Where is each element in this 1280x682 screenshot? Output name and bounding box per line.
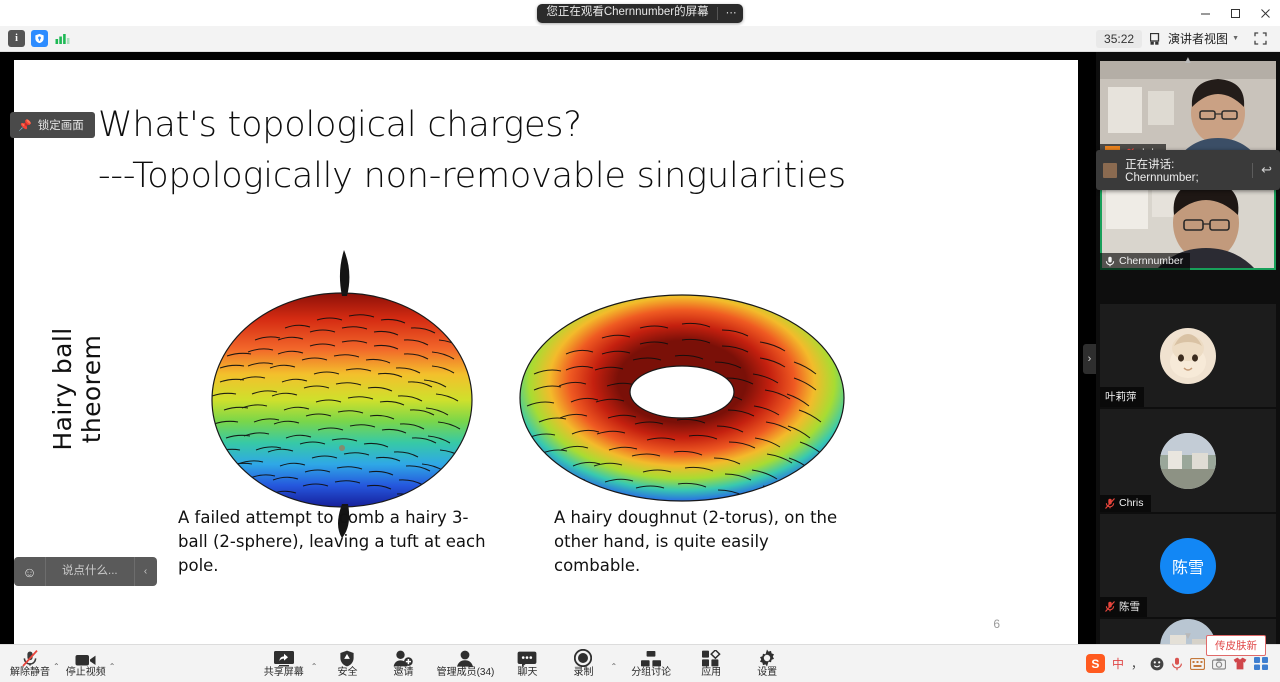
chat-label: 聊天 [517, 668, 537, 678]
ime-language-toggle[interactable]: 中 [1112, 655, 1124, 672]
apps-icon [702, 650, 721, 667]
slide-caption-right: A hairy doughnut (2-torus), on the other… [554, 506, 844, 578]
screenshot-icon[interactable] [1212, 658, 1226, 670]
breakout-rooms-label: 分组讨论 [631, 668, 671, 678]
manage-participants-button[interactable]: 管理成员(34) [433, 645, 497, 682]
window-controls [1190, 0, 1280, 26]
sharing-banner-text: 您正在观看Chernnumber的屏幕 [546, 7, 708, 19]
network-quality-icon[interactable] [54, 30, 71, 47]
participant-name-4: 陈雪 [1119, 599, 1140, 614]
security-shield-icon [339, 650, 355, 667]
reply-arrow-icon[interactable]: ↩ [1261, 162, 1272, 178]
stop-video-button[interactable]: 停止视频 [60, 645, 112, 682]
participant-name-row-2: 叶莉萍 [1100, 387, 1144, 407]
top-bar-right-group: 35:22 演讲者视图 ▼ [1096, 27, 1280, 50]
slide-vertical-label: Hairy ball theorem [48, 274, 106, 504]
reaction-collapse-icon[interactable]: ‹ [135, 557, 157, 586]
sogou-logo-icon[interactable]: S [1086, 654, 1105, 673]
invite-person-icon [393, 650, 413, 667]
chevron-down-icon: ▼ [1232, 35, 1239, 42]
view-mode-label: 演讲者视图 [1168, 30, 1228, 47]
filmstrip-scroll-down[interactable]: ▼ [1096, 628, 1280, 644]
more-options-icon[interactable]: ⋯ [726, 8, 736, 19]
video-camera-icon [75, 650, 96, 667]
slide-title-line1: What's topological charges? [98, 105, 582, 145]
shared-screen-stage: 📌 锁定画面 What's topological charges? ---To… [0, 52, 1096, 644]
settings-button[interactable]: 设置 [741, 645, 793, 682]
record-options-chevron-icon[interactable]: ⌃ [610, 662, 617, 682]
participant-name-3: Chris [1119, 497, 1144, 509]
close-button[interactable] [1250, 0, 1280, 26]
keyboard-icon[interactable] [1190, 658, 1205, 670]
hairy-sphere-figure [192, 248, 492, 538]
avatar-3 [1160, 433, 1216, 489]
top-bar-left-group: i [0, 30, 71, 47]
avatar-4: 陈雪 [1160, 538, 1216, 594]
apps-button[interactable]: 应用 [685, 645, 737, 682]
share-screen-label: 共享屏幕 [264, 668, 304, 678]
security-label: 安全 [337, 668, 357, 678]
participant-tile-3[interactable]: Chris [1100, 409, 1276, 512]
share-screen-icon [273, 650, 295, 667]
record-label: 录制 [573, 668, 593, 678]
security-shield-icon[interactable] [31, 30, 48, 47]
presentation-slide: What's topological charges? ---Topologic… [14, 60, 1078, 645]
screen-share-banner[interactable]: 您正在观看Chernnumber的屏幕 ⋯ [537, 4, 742, 23]
info-icon[interactable]: i [8, 30, 25, 47]
toolbar-center-group: 共享屏幕 ⌃ 安全 邀请 管理成员(34) [258, 645, 793, 682]
banner-divider [717, 7, 718, 20]
emoji-icon[interactable] [1150, 657, 1164, 671]
chat-bubble-icon [517, 650, 537, 667]
record-icon [574, 650, 592, 667]
meeting-toolbar: 解除静音 ⌃ 停止视频 ⌃ 共享屏幕 ⌃ [0, 644, 1280, 682]
slide-page-number: 6 [993, 617, 1000, 631]
minimize-button[interactable] [1190, 0, 1220, 26]
share-screen-button[interactable]: 共享屏幕 [258, 645, 310, 682]
emoji-smiley-icon[interactable]: ☺ [14, 557, 46, 586]
reaction-bar: ☺ 说点什么... ‹ [14, 557, 157, 586]
invite-label: 邀请 [393, 668, 413, 678]
share-options-chevron-icon[interactable]: ⌃ [311, 662, 318, 682]
toast-divider [1252, 163, 1253, 178]
maximize-button[interactable] [1220, 0, 1250, 26]
record-button[interactable]: 录制 [557, 645, 609, 682]
security-button[interactable]: 安全 [321, 645, 373, 682]
participants-icon [455, 650, 475, 667]
avatar-2 [1160, 328, 1216, 384]
participant-tile-2[interactable]: 叶莉萍 [1100, 304, 1276, 407]
breakout-rooms-icon [641, 650, 661, 667]
chat-button[interactable]: 聊天 [501, 645, 553, 682]
mic-muted-icon [1105, 601, 1115, 612]
manage-participants-label: 管理成员(34) [437, 668, 495, 678]
participant-name-row-1: Chernnumber [1100, 253, 1190, 270]
hairy-torus-figure [512, 288, 852, 508]
speaking-indicator-toast: 正在讲话: Chernnumber; ↩ [1096, 150, 1280, 190]
view-mode-selector[interactable]: 演讲者视图 ▼ [1144, 27, 1245, 50]
mic-muted-icon [22, 650, 38, 667]
speaker-avatar-icon [1103, 163, 1117, 178]
meeting-timer: 35:22 [1096, 30, 1142, 48]
slide-title: What's topological charges? ---Topologic… [98, 100, 998, 203]
say-something-input[interactable]: 说点什么... [46, 557, 135, 586]
participant-filmstrip: › ▲ 小九 [1096, 52, 1280, 644]
zoom-meeting-window: 您正在观看Chernnumber的屏幕 ⋯ i [0, 0, 1280, 682]
filmstrip-collapse-button[interactable]: › [1083, 344, 1096, 374]
pin-icon: 📌 [18, 119, 32, 132]
video-options-chevron-icon[interactable]: ⌃ [109, 662, 116, 682]
breakout-rooms-button[interactable]: 分组讨论 [621, 645, 681, 682]
participant-name-2: 叶莉萍 [1105, 389, 1137, 404]
toolbox-icon[interactable] [1254, 657, 1268, 670]
window-title-bar: 您正在观看Chernnumber的屏幕 ⋯ [0, 0, 1280, 26]
speaking-indicator-text: 正在讲话: Chernnumber; [1125, 156, 1244, 184]
filmstrip-scroll-up[interactable]: ▲ [1096, 52, 1280, 68]
meeting-top-bar: i 35:22 演讲者视图 [0, 26, 1280, 52]
participant-name-1: Chernnumber [1119, 255, 1183, 267]
slide-title-line2: ---Topologically non-removable singulari… [98, 151, 998, 202]
stop-video-label: 停止视频 [66, 668, 106, 678]
mic-on-icon [1105, 256, 1115, 267]
participant-name-row-3: Chris [1100, 495, 1151, 512]
slide-caption-left: A failed attempt to comb a hairy 3-ball … [178, 506, 488, 578]
apps-label: 应用 [701, 668, 721, 678]
participant-tile-0[interactable]: 小九 [1100, 61, 1276, 164]
speaker-view-icon [1150, 33, 1164, 45]
unmute-label: 解除静音 [10, 668, 50, 678]
invite-button[interactable]: 邀请 [377, 645, 429, 682]
settings-gear-icon [758, 650, 776, 667]
settings-label: 设置 [757, 668, 777, 678]
toolbar-left-group: 解除静音 ⌃ 停止视频 ⌃ [0, 645, 115, 682]
mic-muted-icon [1105, 498, 1115, 509]
audio-options-chevron-icon[interactable]: ⌃ [53, 662, 60, 682]
skin-icon[interactable] [1233, 657, 1247, 670]
pin-label: 锁定画面 [38, 117, 84, 133]
participant-tile-4[interactable]: 陈雪 陈雪 [1100, 514, 1276, 617]
pin-screen-button[interactable]: 📌 锁定画面 [10, 112, 95, 138]
participant-name-row-4: 陈雪 [1100, 597, 1147, 617]
unmute-button[interactable]: 解除静音 [4, 645, 56, 682]
ime-punctuation-toggle[interactable]: ， [1131, 655, 1143, 672]
microphone-icon[interactable] [1171, 657, 1183, 671]
fullscreen-button[interactable] [1247, 30, 1274, 47]
